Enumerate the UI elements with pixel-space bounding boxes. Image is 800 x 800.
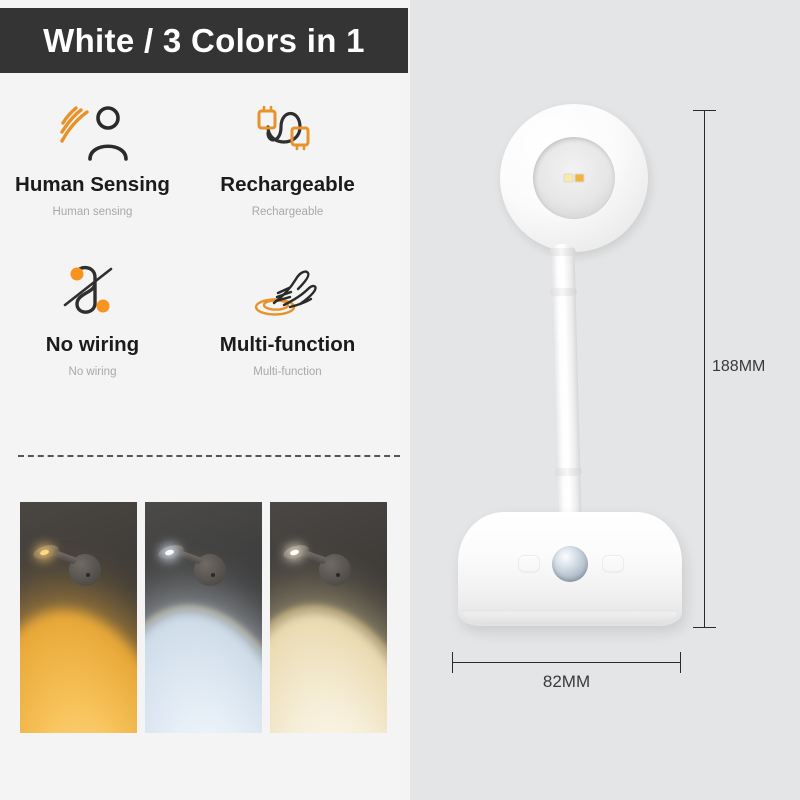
light-mode-gallery xyxy=(0,502,410,734)
feature-subtitle: Human sensing xyxy=(53,206,133,218)
feature-human-sensing: Human Sensing Human sensing xyxy=(0,95,190,255)
base-rim xyxy=(462,610,678,624)
feature-no-wiring: No wiring No wiring xyxy=(0,255,190,415)
wall-lamp-thumb xyxy=(31,538,105,596)
mode-button[interactable] xyxy=(602,555,624,572)
multi-function-icon xyxy=(190,255,385,329)
led-chip-warm xyxy=(564,174,574,183)
led-chip-amber xyxy=(575,174,585,183)
no-wiring-icon xyxy=(0,255,190,329)
motion-sensor xyxy=(552,546,588,582)
rechargeable-icon xyxy=(190,95,385,169)
height-dimension-line xyxy=(704,110,705,628)
led-chips xyxy=(564,174,585,183)
feature-subtitle: Rechargeable xyxy=(252,206,324,218)
human-sensing-icon xyxy=(0,95,190,169)
lamp-base xyxy=(458,512,682,626)
wall-lamp-thumb xyxy=(156,538,230,596)
cool-light-scene[interactable] xyxy=(145,502,262,733)
height-dimension-label: 188MM xyxy=(712,358,765,376)
feature-grid: Human Sensing Human sensing Rechargeable… xyxy=(0,90,410,420)
natural-light-scene[interactable] xyxy=(270,502,387,733)
lamp-head xyxy=(500,104,648,252)
feature-subtitle: Multi-function xyxy=(253,366,321,378)
feature-title: Multi-function xyxy=(220,333,355,357)
width-dimension-label: 82MM xyxy=(452,672,681,692)
warm-light-scene[interactable] xyxy=(20,502,137,733)
title-banner: White / 3 Colors in 1 xyxy=(0,8,408,73)
page-title: White / 3 Colors in 1 xyxy=(43,22,365,60)
product-feature-sheet: White / 3 Colors in 1 Human Sensing Huma… xyxy=(0,0,800,800)
feature-title: Human Sensing xyxy=(15,173,170,197)
reflector-cup xyxy=(533,137,615,219)
wall-lamp-thumb xyxy=(281,538,355,596)
feature-title: Rechargeable xyxy=(220,173,354,197)
gooseneck-arm xyxy=(550,244,581,525)
section-divider xyxy=(18,455,400,457)
feature-subtitle: No wiring xyxy=(69,366,117,378)
power-button[interactable] xyxy=(518,555,540,572)
feature-multi-function: Multi-function Multi-function xyxy=(190,255,385,415)
feature-title: No wiring xyxy=(46,333,139,357)
width-dimension-line xyxy=(452,662,681,663)
feature-rechargeable: Rechargeable Rechargeable xyxy=(190,95,385,255)
